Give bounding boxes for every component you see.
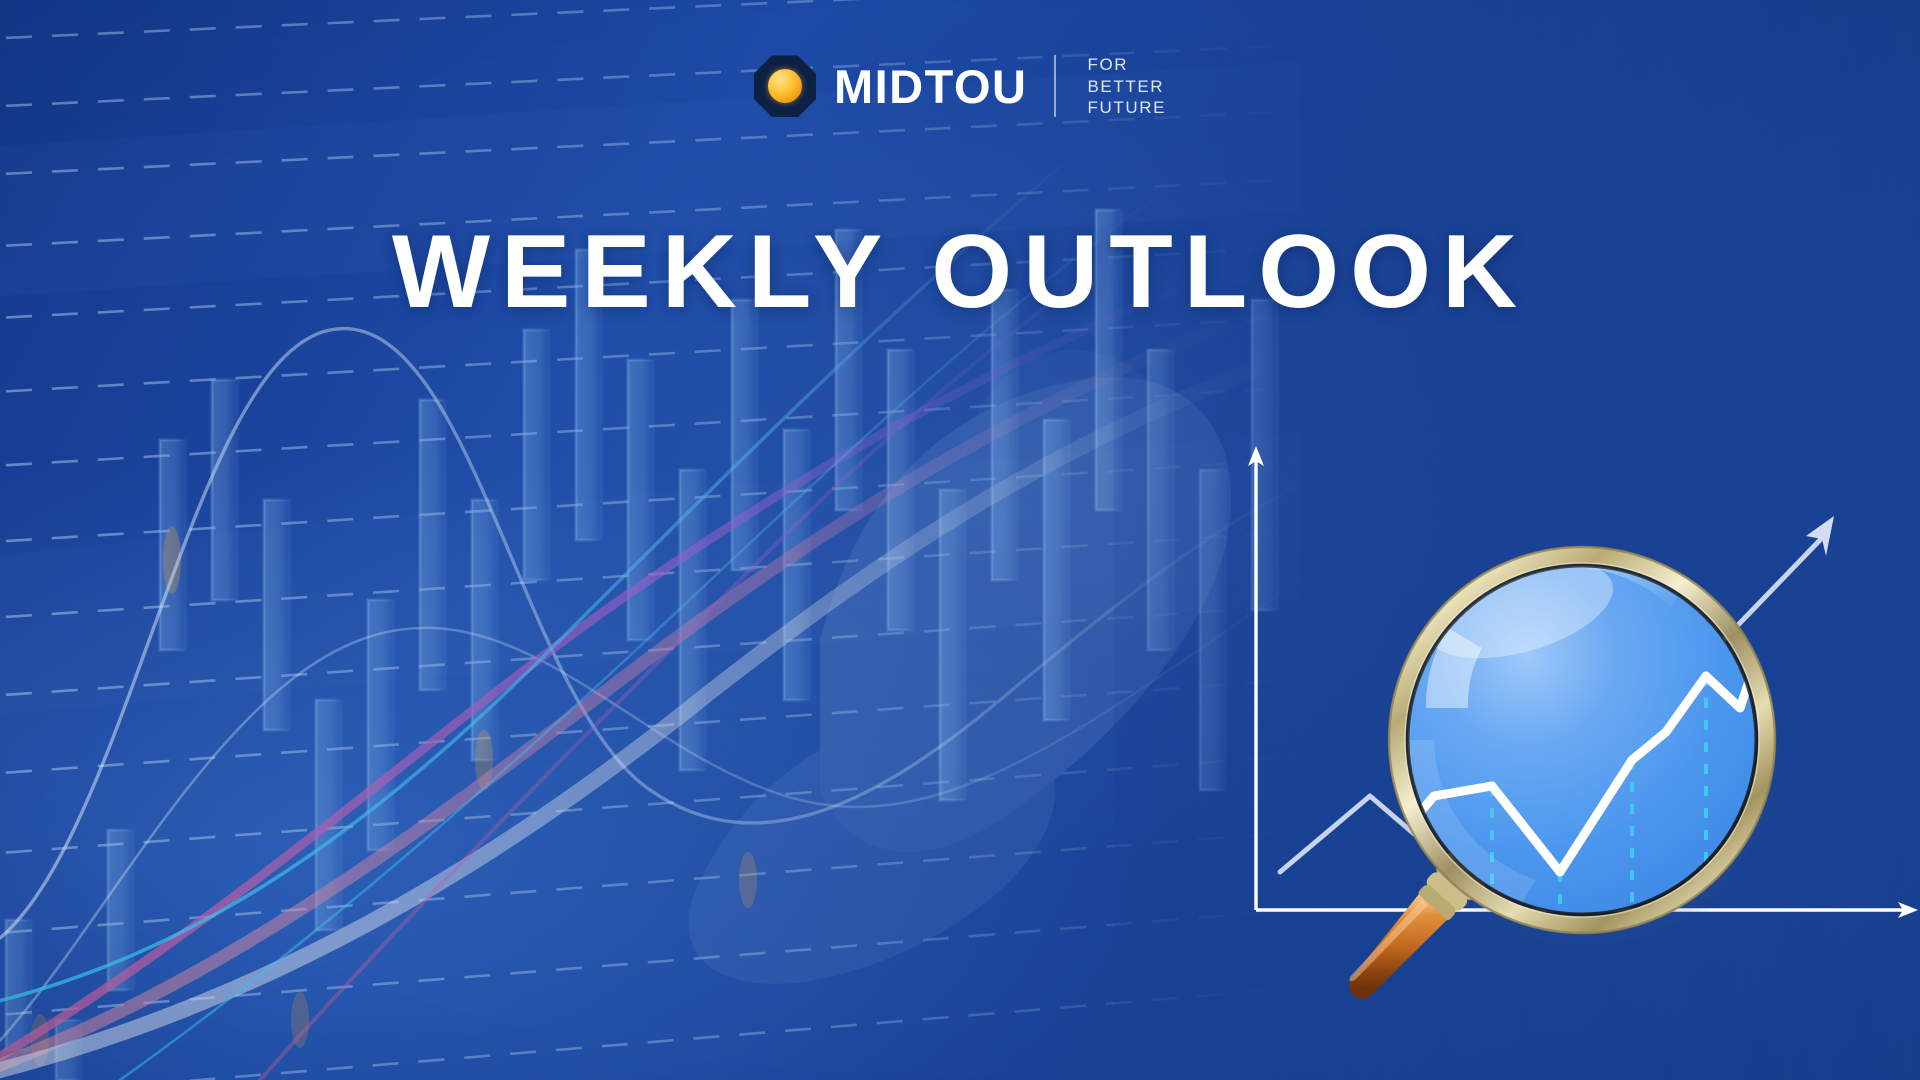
brand-logo[interactable]: MIDTOU FOR BETTER FUTURE	[754, 55, 1166, 118]
brand-tagline: FOR BETTER FUTURE	[1087, 55, 1166, 118]
magnifier-lens	[1389, 519, 1780, 933]
magnifying-glass-chart-illustration	[1220, 440, 1920, 1080]
midtou-octagon-logo-icon	[754, 55, 816, 117]
tagline-line-3: FUTURE	[1087, 98, 1166, 118]
weekly-outlook-banner: MIDTOU FOR BETTER FUTURE WEEKLY OUTLOOK	[0, 0, 1920, 1080]
page-title: WEEKLY OUTLOOK	[0, 220, 1920, 324]
tagline-line-2: BETTER	[1087, 77, 1166, 97]
logo-divider	[1053, 55, 1055, 117]
brand-wordmark: MIDTOU	[834, 63, 1028, 110]
tagline-line-1: FOR	[1087, 55, 1166, 75]
